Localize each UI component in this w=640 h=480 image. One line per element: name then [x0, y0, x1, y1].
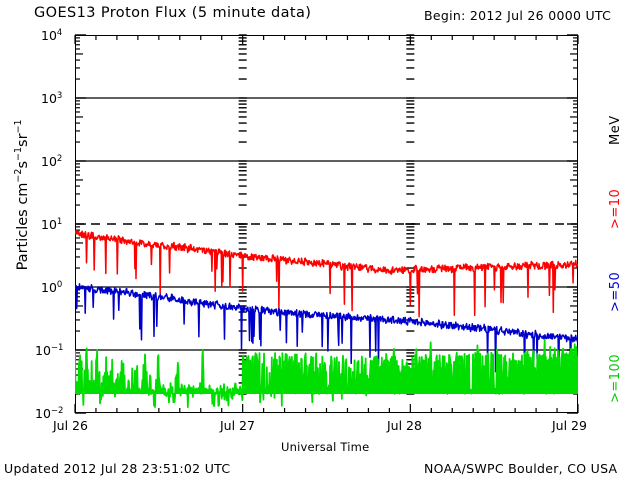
data-traces: [75, 35, 578, 413]
proton-flux-plot: GOES13 Proton Flux (5 minute data) Begin…: [0, 0, 640, 480]
